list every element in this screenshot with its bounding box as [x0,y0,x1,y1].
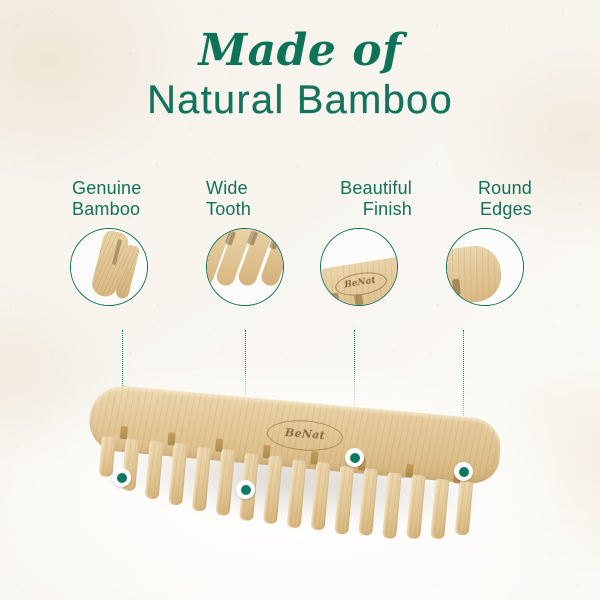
product-photo: BeNat [0,370,600,600]
feature-genuine-bamboo[interactable]: Genuine Bamboo [66,178,184,224]
comb-notch [406,464,414,478]
feature-detail-circle: BeNat [320,228,398,306]
feature-label: Genuine Bamboo [66,178,184,224]
feature-beautiful-finish[interactable]: Beautiful Finish BeNat [304,178,422,224]
bamboo-teeth-closeup-icon [71,229,147,305]
wide-tooth-closeup-icon [207,229,283,305]
comb-notch [310,451,318,465]
feature-marker-3[interactable] [345,448,364,467]
feature-detail-circle [70,228,148,306]
feature-label: Beautiful Finish [304,178,422,224]
comb-notch [167,432,175,446]
feature-label: Wide Tooth [200,178,318,224]
feature-marker-4[interactable] [454,462,473,481]
comb-notch [215,438,223,452]
feature-wide-tooth[interactable]: Wide Tooth [200,178,318,224]
rounded-corner-closeup-icon [447,229,523,305]
feature-round-edges[interactable]: Round Edges [424,178,542,224]
feature-detail-circle [446,228,524,306]
logo-finish-closeup-icon: BeNat [321,229,397,305]
title-main-line: Natural Bamboo [0,74,600,126]
feature-marker-1[interactable] [112,468,131,487]
product-infographic-poster: Made of Natural Bamboo Genuine Bamboo Wi… [0,0,600,600]
comb-notch [120,426,128,440]
comb-notch [263,445,271,459]
feature-label: Round Edges [424,178,542,224]
title-script-line: Made of [0,28,600,74]
feature-detail-circle [206,228,284,306]
feature-marker-2[interactable] [236,480,255,499]
page-title: Made of Natural Bamboo [0,28,600,126]
